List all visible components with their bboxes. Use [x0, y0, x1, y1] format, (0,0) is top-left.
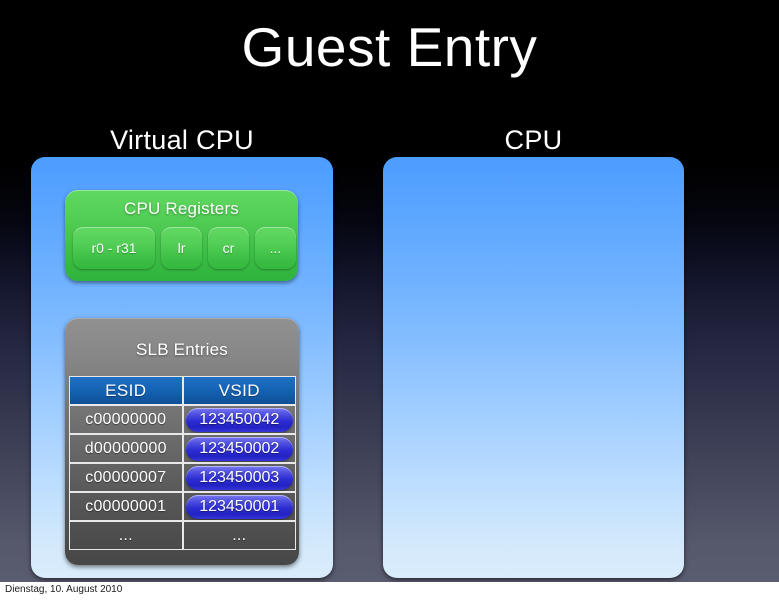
cell-vsid: 123450003 [183, 463, 297, 492]
column-header-esid: ESID [69, 376, 183, 405]
vsid-pill: 123450003 [186, 466, 293, 490]
cell-vsid: 123450001 [183, 492, 297, 521]
register-pill-lr[interactable]: lr [161, 227, 202, 269]
register-pill-cr[interactable]: cr [208, 227, 249, 269]
footer-bar: Dienstag, 10. August 2010 [0, 582, 779, 600]
cpu-panel [383, 157, 684, 578]
slb-entries-table: ESID VSID c00000000 123450042 d00000000 … [69, 376, 296, 550]
vsid-pill: 123450001 [186, 495, 293, 519]
cpu-registers-title: CPU Registers [65, 199, 298, 219]
virtual-cpu-panel: CPU Registers r0 - r31 lr cr ... SLB Ent… [31, 157, 333, 578]
register-pill-more[interactable]: ... [255, 227, 296, 269]
column-heading-cpu: CPU [383, 124, 684, 156]
cpu-registers-box: CPU Registers r0 - r31 lr cr ... [65, 190, 298, 281]
cell-esid: d00000000 [69, 434, 183, 463]
table-row: ... ... [69, 521, 296, 550]
cell-vsid: 123450042 [183, 405, 297, 434]
vsid-pill: 123450002 [186, 437, 293, 461]
table-row: d00000000 123450002 [69, 434, 296, 463]
slb-entries-box: SLB Entries ESID VSID c00000000 12345004… [65, 318, 299, 565]
slb-entries-title: SLB Entries [65, 340, 299, 360]
vsid-pill: 123450042 [186, 408, 293, 432]
cell-vsid-ellipsis: ... [183, 521, 297, 550]
cell-vsid: 123450002 [183, 434, 297, 463]
table-row: c00000000 123450042 [69, 405, 296, 434]
cell-esid: c00000007 [69, 463, 183, 492]
column-header-vsid: VSID [183, 376, 297, 405]
footer-date: Dienstag, 10. August 2010 [5, 584, 122, 595]
table-row: c00000001 123450001 [69, 492, 296, 521]
cell-esid: c00000000 [69, 405, 183, 434]
slide-canvas: Guest Entry Virtual CPU CPU CPU Register… [0, 0, 779, 582]
table-header-row: ESID VSID [69, 376, 296, 405]
cell-esid-ellipsis: ... [69, 521, 183, 550]
page-title: Guest Entry [0, 12, 779, 82]
cell-esid: c00000001 [69, 492, 183, 521]
register-pill-r0-r31[interactable]: r0 - r31 [73, 227, 155, 269]
cpu-register-pill-list: r0 - r31 lr cr ... [73, 227, 290, 269]
table-row: c00000007 123450003 [69, 463, 296, 492]
column-heading-virtual-cpu: Virtual CPU [31, 124, 333, 156]
